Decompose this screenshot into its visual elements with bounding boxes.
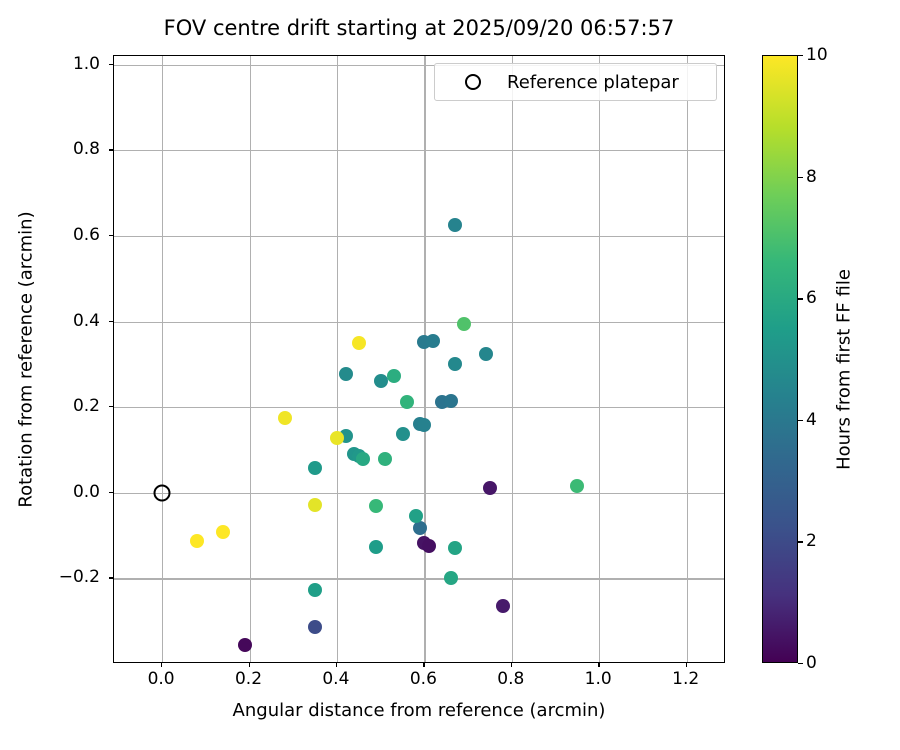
scatter-point — [400, 395, 414, 409]
y-axis-label: Rotation from reference (arcmin) — [16, 50, 37, 670]
colorbar-tick-5 — [798, 55, 803, 56]
plot-area — [113, 55, 725, 663]
scatter-point — [409, 509, 423, 523]
colorbar-tick-label-1: 2 — [806, 531, 817, 551]
scatter-point — [308, 583, 322, 597]
scatter-point — [444, 394, 458, 408]
y-tick-6 — [109, 577, 113, 578]
scatter-point — [413, 521, 427, 535]
x-tick-label-1: 0.2 — [235, 669, 262, 689]
x-tick-3 — [423, 663, 424, 667]
gridline-x-5 — [599, 56, 600, 662]
y-tick-2 — [109, 235, 113, 236]
y-tick-3 — [109, 321, 113, 322]
scatter-point — [308, 498, 322, 512]
scatter-point — [330, 431, 344, 445]
legend-label: Reference platepar — [507, 72, 679, 93]
scatter-point — [479, 347, 493, 361]
colorbar — [762, 55, 798, 663]
scatter-point — [378, 452, 392, 466]
x-tick-label-4: 0.8 — [497, 669, 524, 689]
scatter-point — [190, 534, 204, 548]
scatter-point — [369, 499, 383, 513]
x-tick-4 — [511, 663, 512, 667]
scatter-point — [339, 367, 353, 381]
y-tick-4 — [109, 406, 113, 407]
scatter-point — [448, 357, 462, 371]
gridline-y-6 — [114, 578, 724, 579]
x-tick-label-6: 1.2 — [672, 669, 699, 689]
x-tick-label-3: 0.6 — [410, 669, 437, 689]
gridline-x-0 — [162, 56, 163, 662]
scatter-point — [387, 369, 401, 383]
scatter-point — [417, 418, 431, 432]
gridline-y-4 — [114, 407, 724, 408]
gridline-x-1 — [250, 56, 251, 662]
scatter-point — [496, 599, 510, 613]
x-tick-0 — [161, 663, 162, 667]
gridline-x-4 — [512, 56, 513, 662]
x-tick-1 — [249, 663, 250, 667]
scatter-point — [570, 479, 584, 493]
x-tick-5 — [598, 663, 599, 667]
scatter-point — [278, 411, 292, 425]
colorbar-tick-label-2: 4 — [806, 410, 817, 430]
scatter-point — [308, 461, 322, 475]
colorbar-tick-4 — [798, 177, 803, 178]
colorbar-tick-label-5: 10 — [806, 45, 828, 65]
y-tick-5 — [109, 492, 113, 493]
scatter-point — [238, 638, 252, 652]
scatter-point — [426, 334, 440, 348]
colorbar-tick-label-0: 0 — [806, 653, 817, 673]
gridline-y-1 — [114, 150, 724, 151]
x-tick-label-5: 1.0 — [585, 669, 612, 689]
reference-platepar-marker — [154, 484, 171, 501]
scatter-point — [422, 539, 436, 553]
gridline-y-2 — [114, 236, 724, 237]
x-axis-label: Angular distance from reference (arcmin) — [113, 700, 725, 721]
chart-title: FOV centre drift starting at 2025/09/20 … — [113, 16, 725, 40]
y-tick-1 — [109, 149, 113, 150]
x-tick-2 — [336, 663, 337, 667]
scatter-point — [448, 218, 462, 232]
scatter-point — [308, 620, 322, 634]
scatter-point — [374, 374, 388, 388]
gridline-x-6 — [687, 56, 688, 662]
colorbar-tick-0 — [798, 663, 803, 664]
x-tick-label-2: 0.4 — [322, 669, 349, 689]
colorbar-tick-1 — [798, 541, 803, 542]
gridline-y-3 — [114, 322, 724, 323]
colorbar-tick-2 — [798, 420, 803, 421]
scatter-point — [396, 427, 410, 441]
colorbar-tick-label-3: 6 — [806, 288, 817, 308]
x-tick-6 — [686, 663, 687, 667]
scatter-point — [356, 452, 370, 466]
gridline-x-2 — [337, 56, 338, 662]
scatter-point — [448, 541, 462, 555]
scatter-point — [444, 571, 458, 585]
figure: FOV centre drift starting at 2025/09/20 … — [0, 0, 900, 750]
legend-marker-icon — [465, 74, 481, 90]
scatter-point — [352, 336, 366, 350]
x-tick-label-0: 0.0 — [148, 669, 175, 689]
colorbar-tick-3 — [798, 298, 803, 299]
scatter-point — [483, 481, 497, 495]
scatter-point — [369, 540, 383, 554]
y-tick-0 — [109, 64, 113, 65]
gridlines — [114, 56, 724, 662]
gridline-y-5 — [114, 493, 724, 494]
colorbar-tick-label-4: 8 — [806, 167, 817, 187]
gridline-x-3 — [424, 56, 425, 662]
colorbar-label: Hours from first FF file — [834, 60, 855, 680]
scatter-point — [457, 317, 471, 331]
legend: Reference platepar — [434, 63, 717, 101]
scatter-point — [216, 525, 230, 539]
